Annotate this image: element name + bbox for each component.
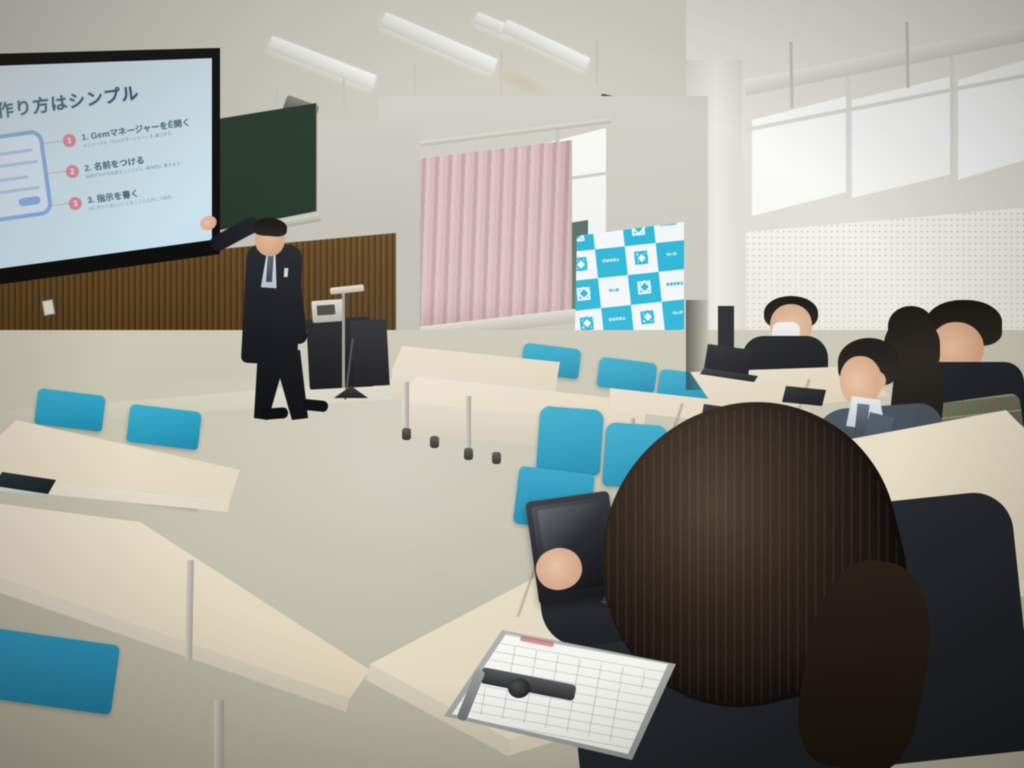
table-leg [214,700,224,768]
hanger-rod [596,40,598,84]
hanger-rod [500,52,502,98]
step-number-badge: 1 [62,133,77,148]
slide-connector-line [50,203,70,207]
banner-tile: 岡山県 [655,240,684,273]
table-caster [402,428,411,440]
banner-tile: 教育委員会 [658,269,684,302]
step-number-badge: 3 [68,196,83,211]
banner-tile-text: 教育委員会 [602,258,619,264]
octagon-flower-logo-icon [577,287,591,301]
table-caster [492,452,501,464]
projection-screen: 作り方はシンプル 1 1. GemマネージャーをÊ開く メニューから「Gemマネ… [0,58,212,270]
banner-tile [625,243,658,276]
banner-tile: 岡山県 [598,275,631,308]
slide-connector-line [46,171,66,175]
table-caster [464,448,473,460]
slide-title: 作り方はシンプル [0,79,141,123]
step-number-badge: 2 [65,164,80,179]
window-mullion [950,56,954,184]
stacking-chair[interactable] [536,406,604,476]
banner-tile [574,279,601,312]
banner-tile-text: 岡山県 [666,252,677,258]
mockup-line [0,186,40,197]
hanger-rod [343,78,345,122]
mockup-line [0,148,33,159]
av-device-screen [317,304,336,315]
mockup-line [0,175,28,185]
octagon-flower-logo-icon [637,280,651,294]
screen-glare [538,502,603,550]
octagon-flower-logo-icon [634,251,648,265]
mockup-line [0,160,38,172]
attendee-2-ear [872,372,886,390]
clipboard-clamp-knob[interactable] [508,678,530,698]
banner-tile: 岡山県 [661,299,684,332]
table-leg [404,382,409,430]
photo-scene: 岡山県 教育委員会 教育委員会 岡山県 岡山県 教育委員会 教育委員会 岡山県 … [0,0,1024,768]
light-switch[interactable] [42,299,55,316]
mockup-button [18,196,41,207]
banner-tile-text: 岡山県 [673,311,684,317]
slide-connector-line [42,141,62,145]
octagon-flower-logo-icon [640,310,654,324]
av-equipment-cart [350,319,389,387]
window-mullion [846,74,850,202]
presentation-slide: 作り方はシンプル 1 1. GemマネージャーをÊ開く メニューから「Gemマネ… [0,58,212,270]
banner-tile-text: 岡山県 [609,288,620,294]
table-caster [430,436,439,448]
equipment-stand-pole [342,290,345,388]
green-chalkboard [205,103,317,233]
presenter-shoe [262,407,289,420]
banner-tile [628,272,661,305]
banner-tile-text: 教育委員会 [609,317,626,323]
banner-tile-text: 教育委員会 [666,281,683,287]
presenter-lapel-badge [284,268,289,277]
table-leg [466,396,471,450]
octagon-flower-logo-icon [580,316,594,330]
banner-tile: 教育委員会 [594,246,627,279]
